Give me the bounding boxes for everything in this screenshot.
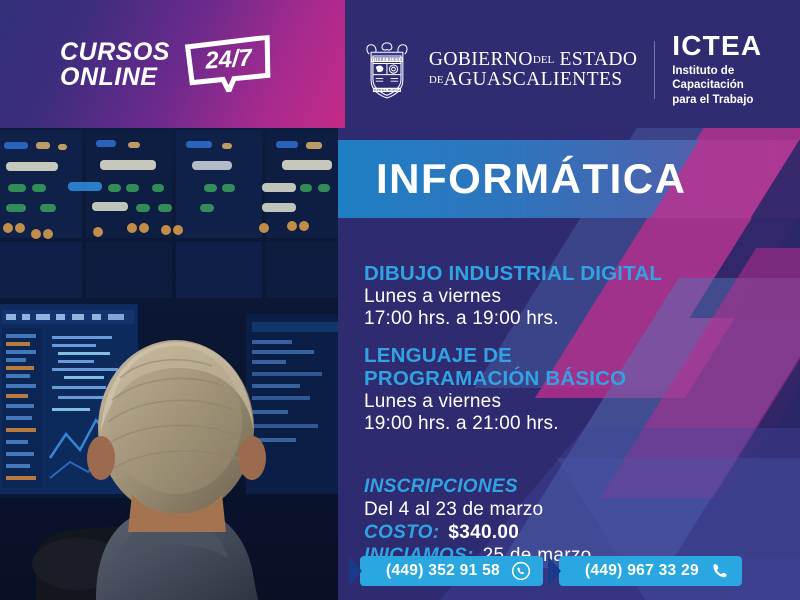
gob-word-del: DEL [533, 54, 554, 66]
course-name-line-2: PROGRAMACIÓN BÁSICO [364, 368, 784, 391]
contact-buttons: (449) 352 91 58 (449) 967 33 29 [360, 556, 742, 586]
gob-word-estado: ESTADO [560, 49, 638, 70]
shield-motto-top: TIERRA BUENA [371, 58, 402, 62]
phone-icon [710, 561, 730, 581]
ictea-acronym: ICTEA [672, 32, 800, 60]
enrollment-heading: INSCRIPCIONES [364, 476, 784, 498]
cost-row: COSTO: $340.00 [364, 521, 784, 544]
government-logo-block: TIERRA BUENA TIERRA BUENA GOBIERNODEL ES… [358, 32, 800, 107]
whatsapp-number: (449) 352 91 58 [386, 562, 500, 580]
shield-motto-bottom: TIERRA BUENA [373, 88, 401, 92]
promotional-flyer: CURSOS ONLINE 24/7 [0, 0, 800, 600]
cursos-online-lockup: CURSOS ONLINE 24/7 [60, 38, 272, 92]
government-name: GOBIERNODEL ESTADO DEAGUASCALIENTES [429, 50, 637, 90]
enrollment-dates: Del 4 al 23 de marzo [364, 498, 784, 521]
flyer-content-panel: INFORMÁTICA DIBUJO INDUSTRIAL DIGITAL Lu… [338, 128, 800, 600]
course-hours: 19:00 hrs. a 21:00 hrs. [364, 413, 784, 435]
cost-label: COSTO: [364, 521, 439, 544]
phone-contact-button[interactable]: (449) 967 33 29 [559, 556, 742, 586]
course-name: LENGUAJE DE [364, 345, 784, 368]
course-name: DIBUJO INDUSTRIAL DIGITAL [364, 263, 784, 286]
control-room-photo [0, 128, 338, 600]
whatsapp-contact-button[interactable]: (449) 352 91 58 [360, 556, 543, 586]
enrollment-info: INSCRIPCIONES Del 4 al 23 de marzo COSTO… [364, 476, 784, 568]
course-hours: 17:00 hrs. a 19:00 hrs. [364, 308, 784, 330]
cursos-line-2: ONLINE [60, 65, 170, 91]
aguascalientes-coat-of-arms-icon: TIERRA BUENA TIERRA BUENA [358, 37, 416, 103]
course-item: DIBUJO INDUSTRIAL DIGITAL Lunes a vierne… [364, 263, 784, 331]
flyer-header: CURSOS ONLINE 24/7 [0, 0, 800, 128]
ictea-subtitle: Instituto de Capacitación para el Trabaj… [672, 64, 800, 107]
ictea-subtitle-line-2: para el Trabajo [672, 93, 800, 107]
cursos-online-text: CURSOS ONLINE [60, 40, 170, 91]
cursos-line-1: CURSOS [60, 40, 170, 66]
course-days: Lunes a viernes [364, 391, 784, 413]
badge-24-7-text: 24/7 [203, 44, 254, 74]
ictea-logo: ICTEA Instituto de Capacitación para el … [672, 32, 800, 107]
page-title: INFORMÁTICA [376, 158, 686, 200]
whatsapp-icon [511, 561, 531, 581]
phone-number: (449) 967 33 29 [585, 562, 699, 580]
gob-word-gobierno: GOBIERNO [429, 49, 533, 70]
ictea-subtitle-line-1: Instituto de Capacitación [672, 64, 800, 93]
course-category-band: INFORMÁTICA [338, 140, 800, 218]
course-list: DIBUJO INDUSTRIAL DIGITAL Lunes a vierne… [364, 263, 784, 449]
speech-bubble-icon: 24/7 [184, 35, 274, 95]
logo-divider [654, 41, 655, 99]
gob-word-de: DE [429, 74, 444, 86]
gob-word-aguascalientes: AGUASCALIENTES [444, 69, 623, 90]
course-item: LENGUAJE DE PROGRAMACIÓN BÁSICO Lunes a … [364, 345, 784, 436]
cost-value: $340.00 [448, 521, 519, 544]
course-days: Lunes a viernes [364, 286, 784, 308]
